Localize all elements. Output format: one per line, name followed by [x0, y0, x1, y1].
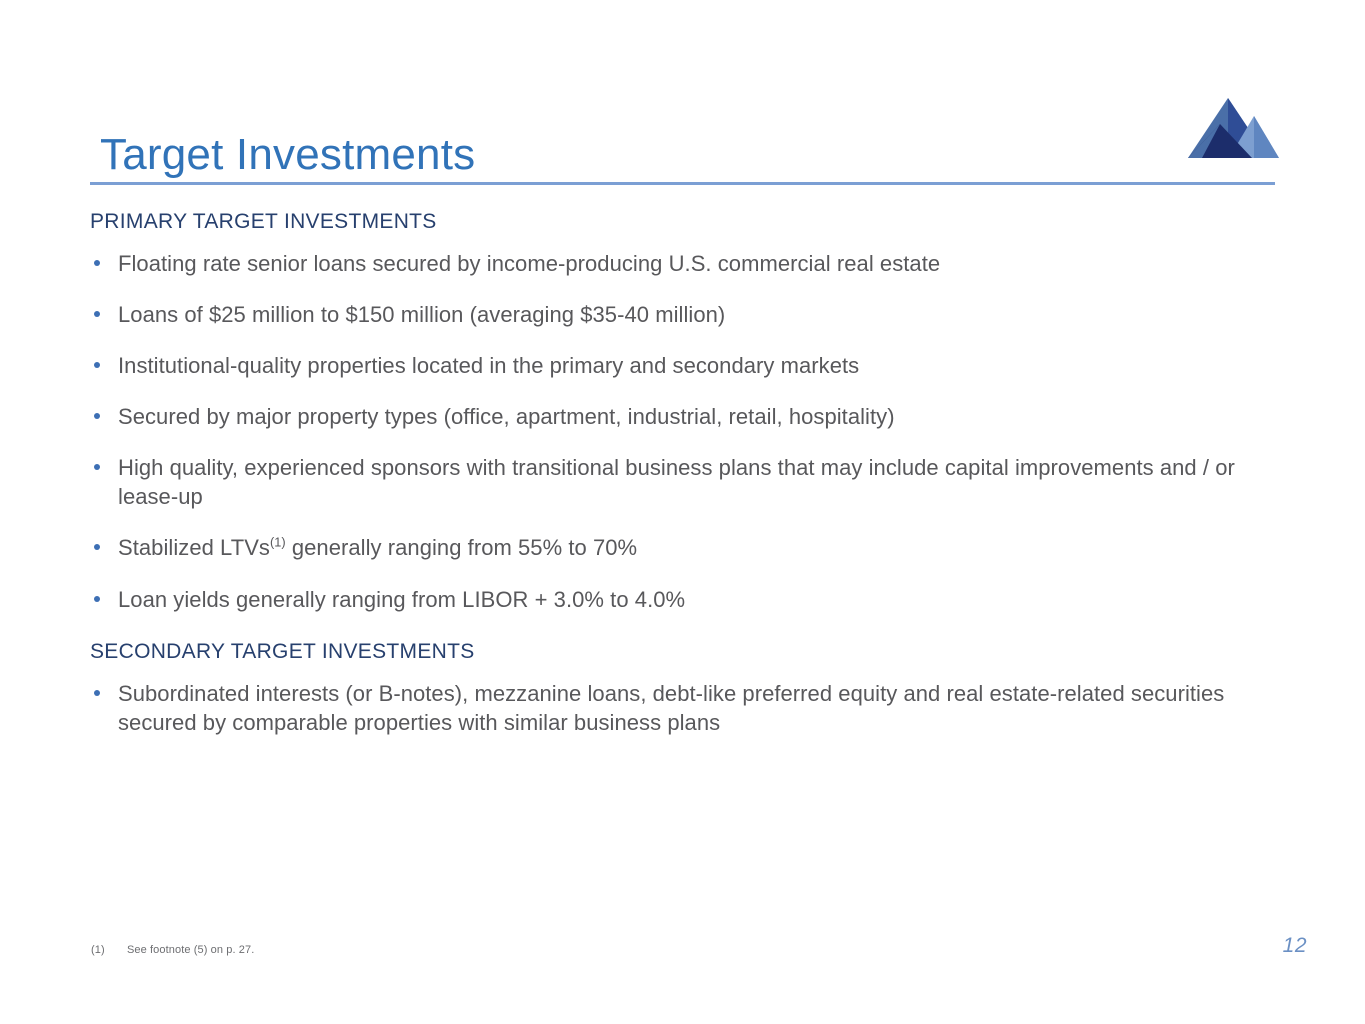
list-item: Loans of $25 million to $150 million (av… [90, 300, 1290, 329]
list-item-ltv: Stabilized LTVs(1) generally ranging fro… [90, 533, 1290, 562]
slide: Target Investments PRIMARY TARGET INVEST… [0, 0, 1365, 1024]
list-item-text: Loan yields generally ranging from LIBOR… [118, 587, 685, 612]
bullet-dot-icon [94, 596, 100, 602]
list-item-text: Secured by major property types (office,… [118, 404, 895, 429]
footnote-marker: (1) [91, 944, 127, 956]
bullet-dot-icon [94, 362, 100, 368]
bullet-dot-icon [94, 413, 100, 419]
slide-body: PRIMARY TARGET INVESTMENTS Floating rate… [90, 208, 1290, 737]
list-item-text: Stabilized LTVs [118, 535, 270, 560]
list-item-text: Subordinated interests (or B-notes), mez… [118, 681, 1224, 735]
footnote-reference: (1) [270, 535, 286, 550]
footnote: (1)See footnote (5) on p. 27. [91, 944, 254, 956]
list-item: Secured by major property types (office,… [90, 402, 1290, 431]
bullet-dot-icon [94, 311, 100, 317]
bullet-dot-icon [94, 544, 100, 550]
list-item: Floating rate senior loans secured by in… [90, 249, 1290, 278]
bullet-list-secondary: Subordinated interests (or B-notes), mez… [90, 679, 1290, 737]
page-number: 12 [1283, 934, 1307, 958]
list-item-text: Institutional-quality properties located… [118, 353, 859, 378]
list-item-text-cont: generally ranging from 55% to 70% [286, 535, 637, 560]
bullet-dot-icon [94, 464, 100, 470]
title-divider [90, 182, 1275, 185]
list-item-text: Floating rate senior loans secured by in… [118, 251, 940, 276]
page-title: Target Investments [100, 131, 475, 179]
list-item: Institutional-quality properties located… [90, 351, 1290, 380]
list-item: Subordinated interests (or B-notes), mez… [90, 679, 1290, 737]
footnote-text: See footnote (5) on p. 27. [127, 944, 254, 956]
section-heading-secondary: SECONDARY TARGET INVESTMENTS [90, 638, 1290, 665]
list-item: Loan yields generally ranging from LIBOR… [90, 585, 1290, 614]
bullet-dot-icon [94, 260, 100, 266]
list-item-text: Loans of $25 million to $150 million (av… [118, 302, 725, 327]
list-item: High quality, experienced sponsors with … [90, 453, 1290, 511]
list-item-text: High quality, experienced sponsors with … [118, 455, 1235, 509]
section-heading-primary: PRIMARY TARGET INVESTMENTS [90, 208, 1290, 235]
mountain-logo-icon [1180, 96, 1280, 162]
bullet-list-primary: Floating rate senior loans secured by in… [90, 249, 1290, 613]
bullet-dot-icon [94, 690, 100, 696]
